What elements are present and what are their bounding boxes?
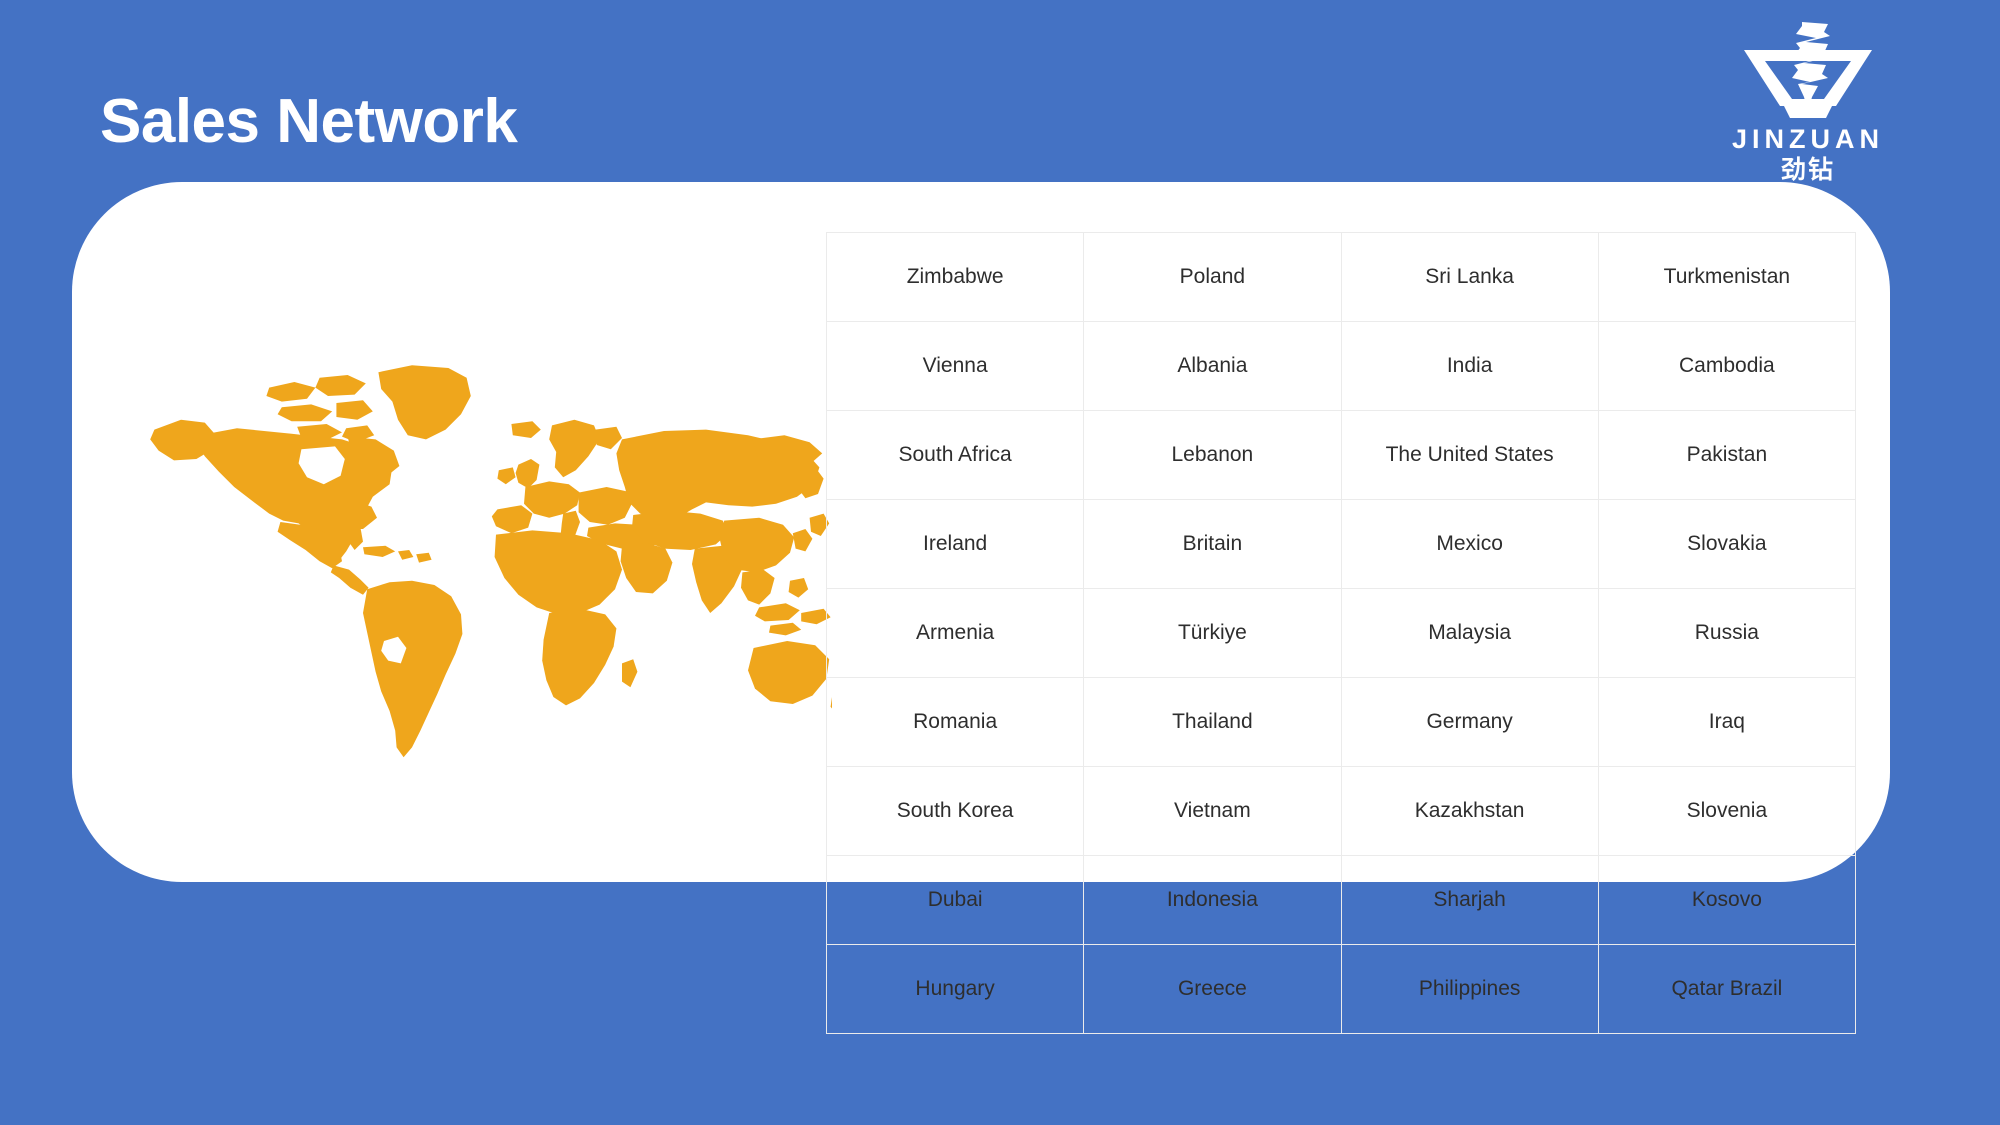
table-cell: Kazakhstan <box>1341 767 1598 856</box>
table-cell: Greece <box>1084 945 1341 1034</box>
table-cell: Ireland <box>827 500 1084 589</box>
table-cell: Lebanon <box>1084 411 1341 500</box>
page-title: Sales Network <box>100 86 517 157</box>
table-cell: Romania <box>827 678 1084 767</box>
table-cell: South Africa <box>827 411 1084 500</box>
table-row: Armenia Türkiye Malaysia Russia <box>827 589 1856 678</box>
table-cell: Philippines <box>1341 945 1598 1034</box>
table-cell: Thailand <box>1084 678 1341 767</box>
table-row: Hungary Greece Philippines Qatar Brazil <box>827 945 1856 1034</box>
table-cell: Sharjah <box>1341 856 1598 945</box>
table-cell: Cambodia <box>1598 322 1855 411</box>
table-cell: Malaysia <box>1341 589 1598 678</box>
company-logo: JINZUAN 劲钻 <box>1708 20 1908 190</box>
table-cell: Albania <box>1084 322 1341 411</box>
table-row: Dubai Indonesia Sharjah Kosovo <box>827 856 1856 945</box>
drill-v-logo-icon <box>1740 20 1876 124</box>
table-row: Ireland Britain Mexico Slovakia <box>827 500 1856 589</box>
table-row: South Africa Lebanon The United States P… <box>827 411 1856 500</box>
content-card: Zimbabwe Poland Sri Lanka Turkmenistan V… <box>72 182 1890 882</box>
table-cell: Hungary <box>827 945 1084 1034</box>
table-cell: Qatar Brazil <box>1598 945 1855 1034</box>
table-row: Vienna Albania India Cambodia <box>827 322 1856 411</box>
table-cell: South Korea <box>827 767 1084 856</box>
table-row: Romania Thailand Germany Iraq <box>827 678 1856 767</box>
table-cell: Indonesia <box>1084 856 1341 945</box>
table-cell: Türkiye <box>1084 589 1341 678</box>
logo-chinese-name: 劲钻 <box>1781 158 1835 183</box>
countries-table-body: Zimbabwe Poland Sri Lanka Turkmenistan V… <box>827 233 1856 1034</box>
table-cell: Armenia <box>827 589 1084 678</box>
table-cell: Vietnam <box>1084 767 1341 856</box>
table-row: South Korea Vietnam Kazakhstan Slovenia <box>827 767 1856 856</box>
table-row: Zimbabwe Poland Sri Lanka Turkmenistan <box>827 233 1856 322</box>
slide-root: Sales Network JINZUAN 劲钻 <box>0 0 2000 1125</box>
table-cell: Dubai <box>827 856 1084 945</box>
table-cell: Iraq <box>1598 678 1855 767</box>
table-cell: Sri Lanka <box>1341 233 1598 322</box>
logo-wordmark: JINZUAN <box>1732 126 1884 153</box>
table-cell: The United States <box>1341 411 1598 500</box>
table-cell: Kosovo <box>1598 856 1855 945</box>
table-cell: Mexico <box>1341 500 1598 589</box>
table-cell: Zimbabwe <box>827 233 1084 322</box>
table-cell: Britain <box>1084 500 1341 589</box>
table-cell: Russia <box>1598 589 1855 678</box>
table-cell: India <box>1341 322 1598 411</box>
table-cell: Germany <box>1341 678 1598 767</box>
world-map-icon <box>132 347 832 767</box>
table-cell: Vienna <box>827 322 1084 411</box>
table-cell: Pakistan <box>1598 411 1855 500</box>
countries-table: Zimbabwe Poland Sri Lanka Turkmenistan V… <box>826 232 1856 1034</box>
table-cell: Turkmenistan <box>1598 233 1855 322</box>
table-cell: Slovakia <box>1598 500 1855 589</box>
table-cell: Poland <box>1084 233 1341 322</box>
table-cell: Slovenia <box>1598 767 1855 856</box>
